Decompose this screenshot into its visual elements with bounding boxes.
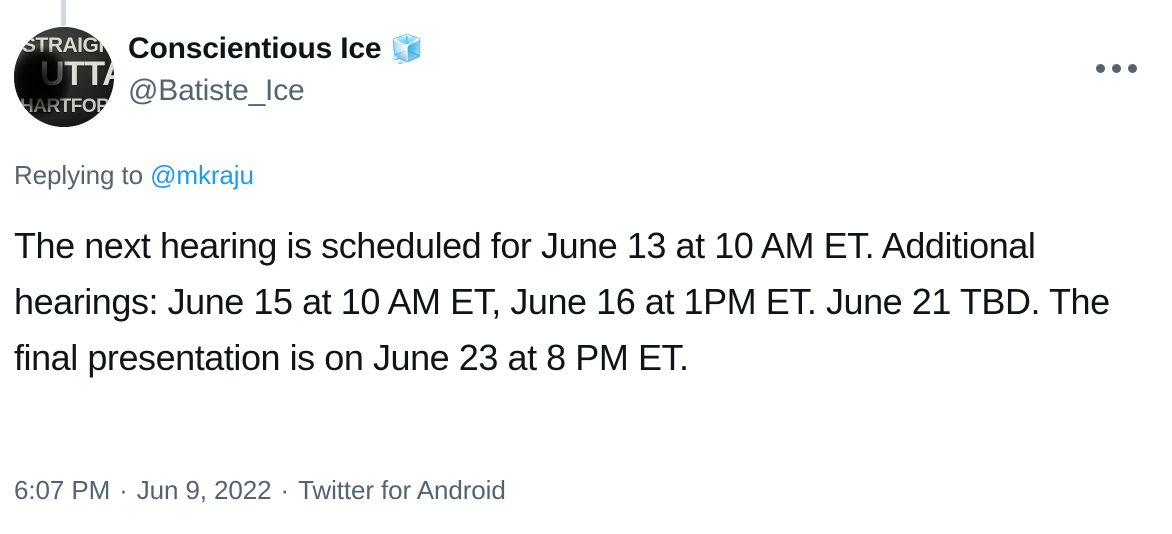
user-handle[interactable]: @Batiste_Ice	[128, 71, 424, 111]
meta-separator-2: ·	[272, 473, 299, 507]
more-dot-2	[1112, 64, 1121, 73]
tweet-detail-card: STRAIGHT UTTA HARTFORD Conscientious Ice…	[0, 0, 1172, 534]
tweet-meta: 6:07 PM · Jun 9, 2022 · Twitter for Andr…	[14, 473, 506, 507]
tweet-source[interactable]: Twitter for Android	[298, 473, 506, 507]
tweet-header: STRAIGHT UTTA HARTFORD Conscientious Ice…	[0, 27, 1172, 132]
avatar-portrait-shadow	[14, 27, 114, 127]
meta-separator-1: ·	[110, 473, 137, 507]
more-dot-1	[1096, 64, 1105, 73]
tweet-time: 6:07 PM	[14, 473, 110, 507]
display-name-row: Conscientious Ice 🧊	[128, 30, 424, 68]
display-name[interactable]: Conscientious Ice	[128, 30, 381, 68]
avatar-image: STRAIGHT UTTA HARTFORD	[14, 27, 114, 127]
more-dot-3	[1128, 64, 1137, 73]
avatar[interactable]: STRAIGHT UTTA HARTFORD	[14, 27, 114, 127]
thread-connector-line	[61, 0, 66, 26]
author-names: Conscientious Ice 🧊 @Batiste_Ice	[128, 30, 424, 111]
more-options-icon[interactable]	[1084, 45, 1148, 91]
reply-context-mention[interactable]: @mkraju	[150, 160, 254, 190]
ice-cube-emoji: 🧊	[390, 36, 424, 63]
tweet-text: The next hearing is scheduled for June 1…	[14, 218, 1154, 386]
reply-context: Replying to @mkraju	[14, 158, 254, 192]
reply-context-prefix: Replying to	[14, 160, 150, 190]
tweet-date: Jun 9, 2022	[137, 473, 272, 507]
